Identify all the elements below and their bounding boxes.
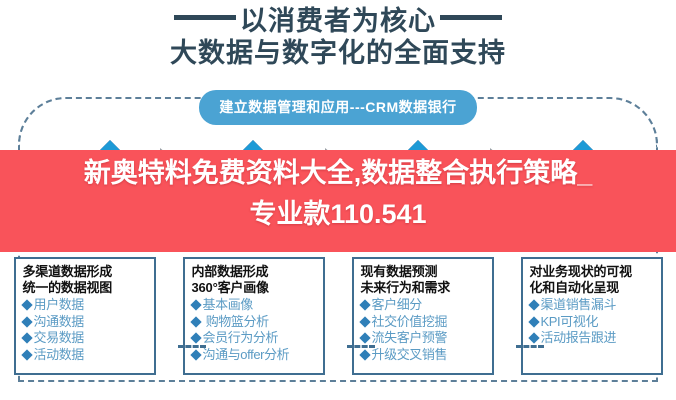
- page-title-line-1-text: 以消费者为核心: [240, 6, 436, 36]
- page-title-line-1: 以消费者为核心: [0, 4, 676, 38]
- diamond-bullet-icon: [359, 349, 370, 360]
- list-item-label: 用户数据: [34, 297, 84, 312]
- card-insight-analysis[interactable]: 内部数据形成 360°客户画像 基本画像 购物篮分析 会员行为分析 沟通与off…: [183, 257, 325, 375]
- list-item[interactable]: 购物篮分析: [192, 314, 317, 331]
- diamond-bullet-icon: [359, 299, 370, 310]
- list-item-label: 客户细分: [372, 297, 422, 312]
- card-data-integration[interactable]: 多渠道数据形成 统一的数据视图 用户数据 沟通数据 交易数据 活动数据: [14, 257, 156, 375]
- diamond-bullet-icon: [21, 349, 32, 360]
- card-connector-3: [516, 345, 544, 348]
- card-2-list: 基本画像 购物篮分析 会员行为分析 沟通与offer分析: [192, 297, 317, 363]
- list-item[interactable]: 升级交叉销售: [361, 347, 486, 364]
- list-item-label: 活动数据: [34, 347, 84, 362]
- list-item[interactable]: 活动报告跟进: [530, 330, 655, 347]
- list-item-label: KPI可视化: [541, 314, 599, 329]
- list-item[interactable]: 活动数据: [23, 347, 148, 364]
- diamond-bullet-icon: [190, 332, 201, 343]
- list-item[interactable]: 沟通数据: [23, 314, 148, 331]
- list-item[interactable]: 沟通与offer分析: [192, 347, 317, 364]
- list-item-label: 升级交叉销售: [372, 347, 448, 362]
- list-item-label: 交易数据: [34, 330, 84, 345]
- diamond-bullet-icon: [190, 299, 201, 310]
- list-item[interactable]: 基本画像: [192, 297, 317, 314]
- card-title-2-line-1: 内部数据形成: [192, 264, 317, 280]
- list-item[interactable]: 渠道销售漏斗: [530, 297, 655, 314]
- diamond-bullet-icon: [359, 316, 370, 327]
- diamond-bullet-icon: [528, 316, 539, 327]
- list-item[interactable]: 客户细分: [361, 297, 486, 314]
- list-item[interactable]: 用户数据: [23, 297, 148, 314]
- card-title-1-line-1: 多渠道数据形成: [23, 264, 148, 280]
- list-item-label: 会员行为分析: [203, 330, 279, 345]
- list-item-label: 社交价值挖掘: [372, 314, 448, 329]
- diamond-bullet-icon: [21, 316, 32, 327]
- infographic-canvas: 以消费者为核心 大数据与数字化的全面支持 建立数据管理和应用---CRM数据银行: [0, 0, 676, 400]
- list-item[interactable]: KPI可视化: [530, 314, 655, 331]
- list-item[interactable]: 会员行为分析: [192, 330, 317, 347]
- card-connector-2: [347, 345, 375, 348]
- list-item-label: 渠道销售漏斗: [541, 297, 617, 312]
- list-item[interactable]: 社交价值挖掘: [361, 314, 486, 331]
- card-title-1-line-2: 统一的数据视图: [23, 280, 148, 296]
- list-item[interactable]: 交易数据: [23, 330, 148, 347]
- diamond-bullet-icon: [528, 299, 539, 310]
- list-item-label: 活动报告跟进: [541, 330, 617, 345]
- list-item-label: 购物篮分析: [203, 314, 269, 329]
- card-slot-2: 内部数据形成 360°客户画像 基本画像 购物篮分析 会员行为分析 沟通与off…: [169, 257, 338, 377]
- diamond-bullet-icon: [21, 332, 32, 343]
- card-title-2-line-2: 360°客户画像: [192, 280, 317, 296]
- diamond-bullet-icon: [528, 332, 539, 343]
- badge-row: 建立数据管理和应用---CRM数据银行: [0, 90, 676, 125]
- diamond-bullet-icon: [359, 332, 370, 343]
- card-1-list: 用户数据 沟通数据 交易数据 活动数据: [23, 297, 148, 363]
- page-title-line-2: 大数据与数字化的全面支持: [0, 36, 676, 70]
- page-header: 以消费者为核心 大数据与数字化的全面支持: [0, 4, 676, 70]
- card-title-4-line-2: 化和自动化呈现: [530, 280, 655, 296]
- card-4-list: 渠道销售漏斗 KPI可视化 活动报告跟进: [530, 297, 655, 347]
- list-item-label: 沟通数据: [34, 314, 84, 329]
- diamond-bullet-icon: [190, 316, 201, 327]
- red-overlay-text: 新奥特料免费资料大全,数据整合执行策略_ 专业款110.541: [0, 152, 676, 234]
- list-item-label: 沟通与offer分析: [203, 347, 290, 362]
- card-business-intelligence[interactable]: 对业务现状的可视 化和自动化呈现 渠道销售漏斗 KPI可视化 活动报告跟进: [521, 257, 663, 375]
- list-item[interactable]: 流失客户预警: [361, 330, 486, 347]
- card-slot-3: 现有数据预测 未来行为和需求 客户细分 社交价值挖掘 流失客户预警 升级交叉销售: [338, 257, 507, 377]
- card-3-list: 客户细分 社交价值挖掘 流失客户预警 升级交叉销售: [361, 297, 486, 363]
- card-title-3-line-2: 未来行为和需求: [361, 280, 486, 296]
- card-row: 多渠道数据形成 统一的数据视图 用户数据 沟通数据 交易数据 活动数据 内部数据…: [0, 257, 676, 377]
- diamond-bullet-icon: [190, 349, 201, 360]
- card-slot-1: 多渠道数据形成 统一的数据视图 用户数据 沟通数据 交易数据 活动数据: [0, 257, 169, 377]
- title-rule-right: [440, 15, 502, 20]
- list-item-label: 流失客户预警: [372, 330, 448, 345]
- overlay-text-line-2: 专业款110.541: [0, 194, 676, 234]
- card-title-3-line-1: 现有数据预测: [361, 264, 486, 280]
- list-item-label: 基本画像: [203, 297, 253, 312]
- card-slot-4: 对业务现状的可视 化和自动化呈现 渠道销售漏斗 KPI可视化 活动报告跟进: [507, 257, 676, 377]
- card-modeling-prediction[interactable]: 现有数据预测 未来行为和需求 客户细分 社交价值挖掘 流失客户预警 升级交叉销售: [352, 257, 494, 375]
- title-rule-left: [174, 15, 236, 20]
- card-title-4-line-1: 对业务现状的可视: [530, 264, 655, 280]
- overlay-text-line-1: 新奥特料免费资料大全,数据整合执行策略_: [0, 152, 676, 194]
- diamond-bullet-icon: [21, 299, 32, 310]
- card-connector-1: [178, 345, 206, 348]
- crm-data-bank-badge[interactable]: 建立数据管理和应用---CRM数据银行: [199, 90, 476, 125]
